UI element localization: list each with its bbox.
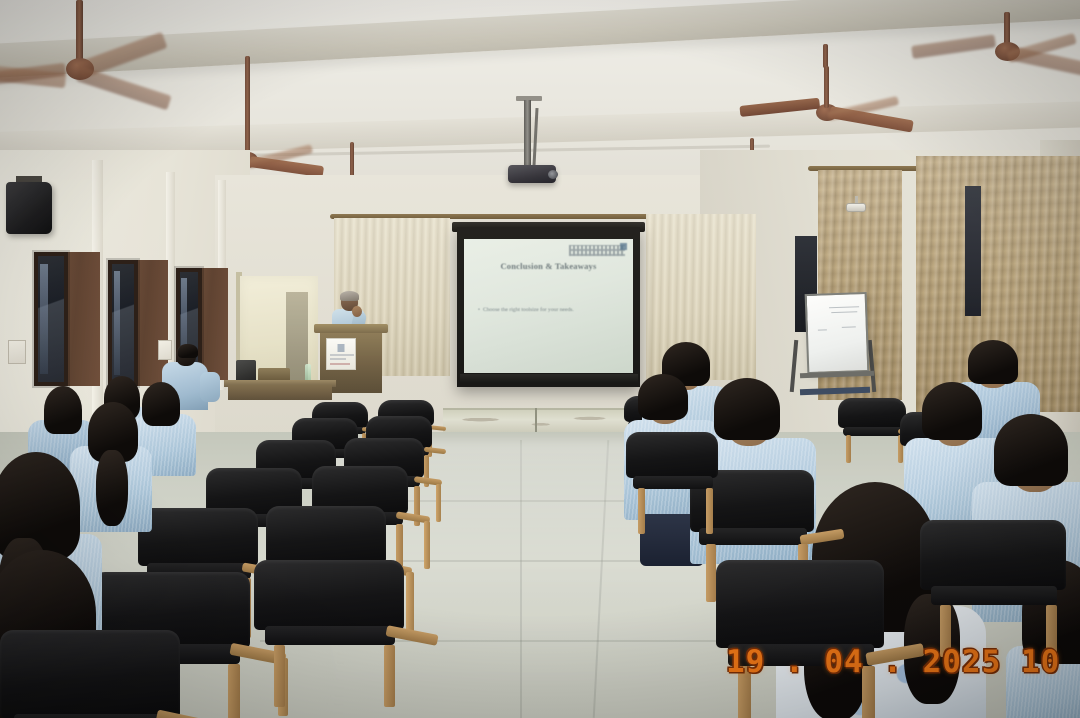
window-2 [108, 260, 138, 386]
projector-pole [524, 100, 531, 168]
window-1 [34, 252, 68, 386]
whiteboard-writing-4 [842, 326, 856, 327]
podium-sign-line-1 [330, 354, 354, 356]
slide-bullet-marker-icon: • [478, 307, 480, 313]
podium-sign-line-3 [330, 363, 350, 365]
projection-screen-weight-bar [460, 374, 638, 383]
stage-seam [535, 408, 537, 434]
presenter-hand [352, 306, 362, 317]
projection-screen-surface: Conclusion & Takeaways •Choose the right… [464, 239, 633, 373]
wall-switch-plate-left[interactable] [8, 340, 26, 364]
photograph-conference-hall: Conclusion & Takeaways •Choose the right… [0, 0, 1080, 718]
front-table [228, 385, 332, 400]
podium-emblem-icon [338, 344, 345, 352]
podium-top [314, 324, 388, 333]
whiteboard-writing-3 [818, 329, 827, 330]
security-camera [846, 203, 866, 212]
whiteboard-writing-1 [829, 306, 859, 308]
slide-logo-icon [569, 245, 625, 256]
stage-platform-edge [443, 408, 631, 434]
whiteboard-writing-2 [831, 311, 857, 313]
slide-title: Conclusion & Takeaways [464, 261, 633, 271]
flipchart-whiteboard [805, 292, 870, 374]
wall-speaker [6, 182, 52, 234]
slide-bullet-line: •Choose the right toolsize for your need… [478, 307, 628, 313]
slide-logo-mark-icon [620, 243, 627, 250]
podium-sign-line-2 [330, 358, 346, 360]
audience-arm [200, 372, 220, 402]
dark-wall-board-right [965, 186, 981, 316]
presenter-hair [340, 291, 359, 301]
front-table-equipment [236, 360, 256, 382]
slide-bullet-text: Choose the right toolsize for your needs… [483, 307, 574, 313]
podium-logo-sign [326, 338, 356, 370]
camera-timestamp: 19 . 04 . 2025 10 : 39 [726, 644, 1080, 680]
wall-switch-plate-mid[interactable] [158, 340, 172, 360]
projector-lens-icon [548, 170, 558, 179]
